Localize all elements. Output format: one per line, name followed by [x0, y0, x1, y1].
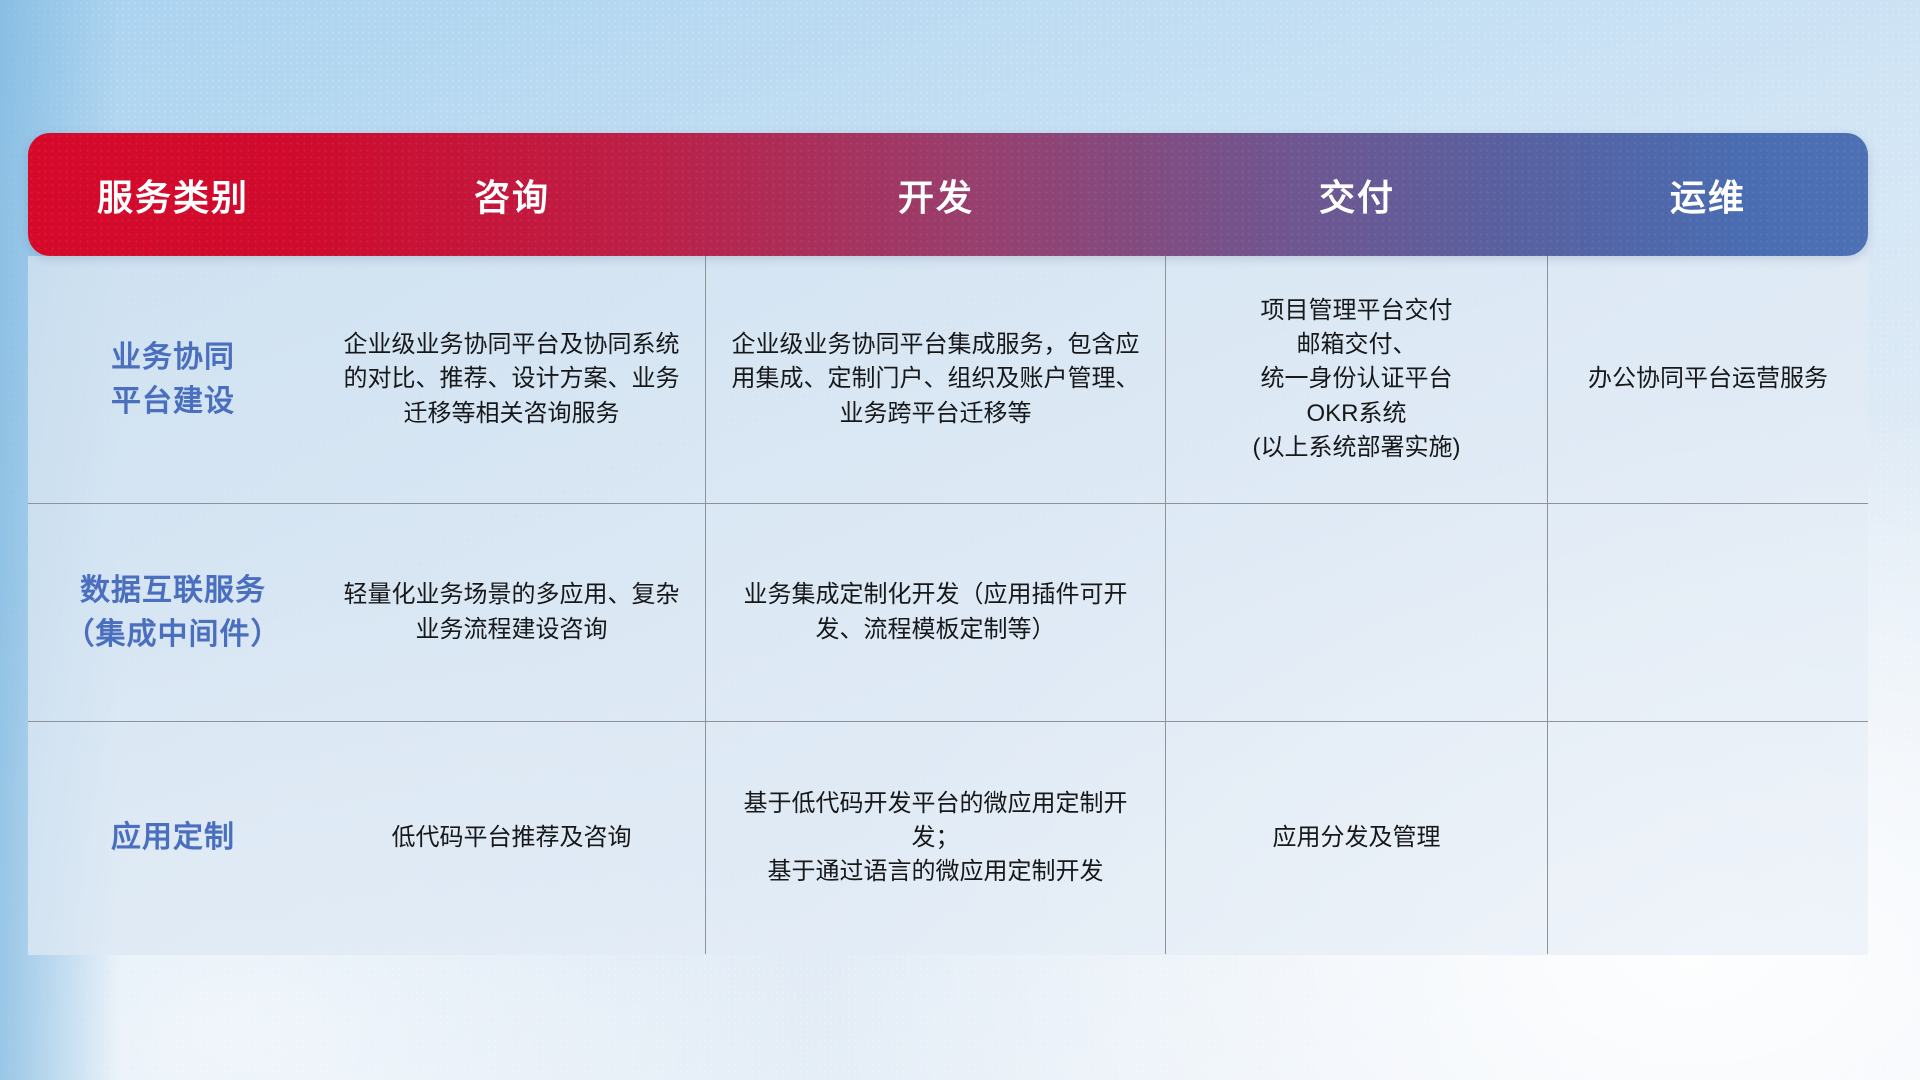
table-body: 业务协同 平台建设 企业级业务协同平台及协同系统的对比、推荐、设计方案、业务迁移…	[28, 256, 1868, 955]
cell-text: 低代码平台推荐及咨询	[392, 821, 632, 855]
cell-delivery: 项目管理平台交付 邮箱交付、 统一身份认证平台 OKR系统 (以上系统部署实施)	[1166, 256, 1548, 503]
row-category-label: 应用定制	[111, 816, 235, 860]
row-category-cell: 数据互联服务 （集成中间件）	[28, 504, 318, 721]
service-category-table: 服务类别 咨询 开发 交付 运维 业务协同 平台建设 企业级业务协同平台及协同系…	[28, 133, 1868, 955]
cell-development: 基于低代码开发平台的微应用定制开发； 基于通过语言的微应用定制开发	[706, 722, 1166, 954]
cell-operations	[1548, 504, 1868, 721]
row-category-label: 数据互联服务 （集成中间件）	[65, 569, 282, 656]
table-row: 应用定制 低代码平台推荐及咨询 基于低代码开发平台的微应用定制开发； 基于通过语…	[28, 722, 1868, 954]
cell-operations	[1548, 722, 1868, 954]
table-header-row: 服务类别 咨询 开发 交付 运维	[28, 133, 1868, 256]
column-header-label: 咨询	[474, 169, 550, 221]
row-category-cell: 业务协同 平台建设	[28, 256, 318, 503]
cell-text: 基于低代码开发平台的微应用定制开发； 基于通过语言的微应用定制开发	[720, 787, 1151, 889]
cell-text: 企业级业务协同平台集成服务，包含应用集成、定制门户、组织及账户管理、业务跨平台迁…	[720, 328, 1151, 430]
column-header-label: 交付	[1319, 169, 1395, 221]
cell-consulting: 低代码平台推荐及咨询	[318, 722, 706, 954]
table-row: 数据互联服务 （集成中间件） 轻量化业务场景的多应用、复杂业务流程建设咨询 业务…	[28, 504, 1868, 722]
cell-delivery	[1166, 504, 1548, 721]
cell-consulting: 企业级业务协同平台及协同系统的对比、推荐、设计方案、业务迁移等相关咨询服务	[318, 256, 706, 503]
cell-operations: 办公协同平台运营服务	[1548, 256, 1868, 503]
cell-text: 办公协同平台运营服务	[1588, 362, 1828, 396]
cell-text: 轻量化业务场景的多应用、复杂业务流程建设咨询	[332, 578, 691, 646]
row-category-cell: 应用定制	[28, 722, 318, 954]
column-header-development: 开发	[706, 133, 1166, 256]
cell-text: 应用分发及管理	[1273, 821, 1441, 855]
column-header-delivery: 交付	[1166, 133, 1548, 256]
column-header-consulting: 咨询	[318, 133, 706, 256]
cell-text: 企业级业务协同平台及协同系统的对比、推荐、设计方案、业务迁移等相关咨询服务	[332, 328, 691, 430]
cell-development: 业务集成定制化开发（应用插件可开发、流程模板定制等）	[706, 504, 1166, 721]
row-category-label: 业务协同 平台建设	[111, 336, 235, 423]
column-header-operations: 运维	[1548, 133, 1868, 256]
cell-delivery: 应用分发及管理	[1166, 722, 1548, 954]
cell-consulting: 轻量化业务场景的多应用、复杂业务流程建设咨询	[318, 504, 706, 721]
cell-development: 企业级业务协同平台集成服务，包含应用集成、定制门户、组织及账户管理、业务跨平台迁…	[706, 256, 1166, 503]
table-row: 业务协同 平台建设 企业级业务协同平台及协同系统的对比、推荐、设计方案、业务迁移…	[28, 256, 1868, 504]
cell-text: 业务集成定制化开发（应用插件可开发、流程模板定制等）	[720, 578, 1151, 646]
cell-text: 项目管理平台交付 邮箱交付、 统一身份认证平台 OKR系统 (以上系统部署实施)	[1253, 294, 1461, 464]
column-header-label: 服务类别	[97, 169, 249, 221]
column-header-label: 运维	[1670, 169, 1746, 221]
column-header-service-category: 服务类别	[28, 133, 318, 256]
column-header-label: 开发	[898, 169, 974, 221]
